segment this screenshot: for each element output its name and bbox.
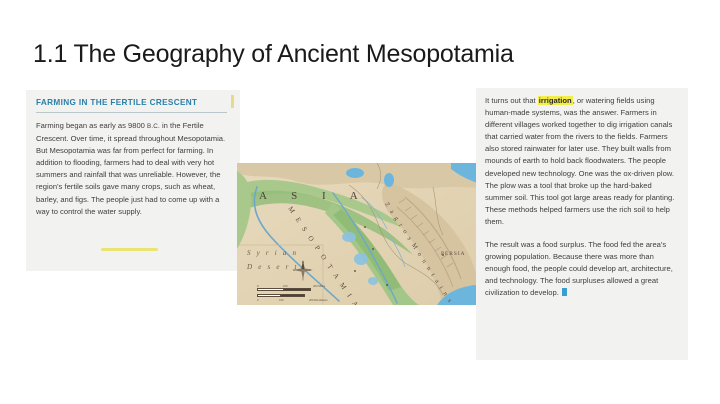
scale-seg-c [257, 294, 281, 297]
scale-km-tick-100: 100 [279, 298, 284, 302]
end-of-article-marker-icon [562, 288, 567, 296]
left-article-heading: FARMING IN THE FERTILE CRESCENT [36, 98, 197, 107]
heading-divider [36, 112, 227, 113]
right-paragraph-2: The result was a food surplus. The food … [485, 239, 681, 299]
yellow-highlight-mark [101, 248, 158, 251]
right-p1-rest: , or watering fields using human-made sy… [485, 96, 674, 226]
mesopotamia-map: A S I A M E S O P O T A M I A Z a g r o … [237, 163, 485, 305]
left-body-text-1: Farming began as early as 9800 [36, 121, 147, 130]
scale-seg-d [281, 294, 305, 297]
right-p1-lead: It turns out that [485, 96, 538, 105]
scale-km-tick-0: 0 [257, 298, 259, 302]
scale-miles-unit: 200 Miles [313, 284, 325, 288]
right-article-body: It turns out that irrigation, or waterin… [485, 95, 681, 300]
svg-text:E: E [309, 268, 311, 272]
scale-seg-a [257, 288, 284, 291]
left-article-panel: FARMING IN THE FERTILE CRESCENT Farming … [26, 90, 240, 271]
scale-km-unit: 200 Kilometers [309, 298, 328, 302]
scale-row-km: 200 Kilometers 0 100 [257, 294, 335, 298]
svg-text:N: N [302, 260, 305, 264]
scale-row-miles: 0 100 200 Miles [257, 288, 335, 292]
map-graphic [237, 163, 485, 305]
map-scale-bar: 0 100 200 Miles 200 Kilometers 0 100 [257, 288, 335, 300]
left-article-body: Farming began as early as 9800 B.C. in t… [36, 120, 233, 218]
heading-accent-tick [231, 95, 234, 108]
vocab-term-irrigation: irrigation [538, 96, 573, 105]
right-paragraph-1: It turns out that irrigation, or waterin… [485, 95, 681, 228]
scale-seg-b [284, 288, 311, 291]
svg-text:W: W [293, 268, 296, 272]
right-article-panel: It turns out that irrigation, or waterin… [476, 88, 688, 360]
right-p2-text: The result was a food surplus. The food … [485, 240, 673, 297]
page-title: 1.1 The Geography of Ancient Mesopotamia [33, 40, 514, 69]
left-body-era: B.C. [147, 123, 160, 130]
svg-text:S: S [302, 277, 304, 281]
slide-canvas: 1.1 The Geography of Ancient Mesopotamia… [0, 0, 720, 404]
compass-rose-icon: N S W E [292, 259, 314, 281]
left-body-text-2: in the Fertile Crescent. Over time, it s… [36, 121, 225, 216]
